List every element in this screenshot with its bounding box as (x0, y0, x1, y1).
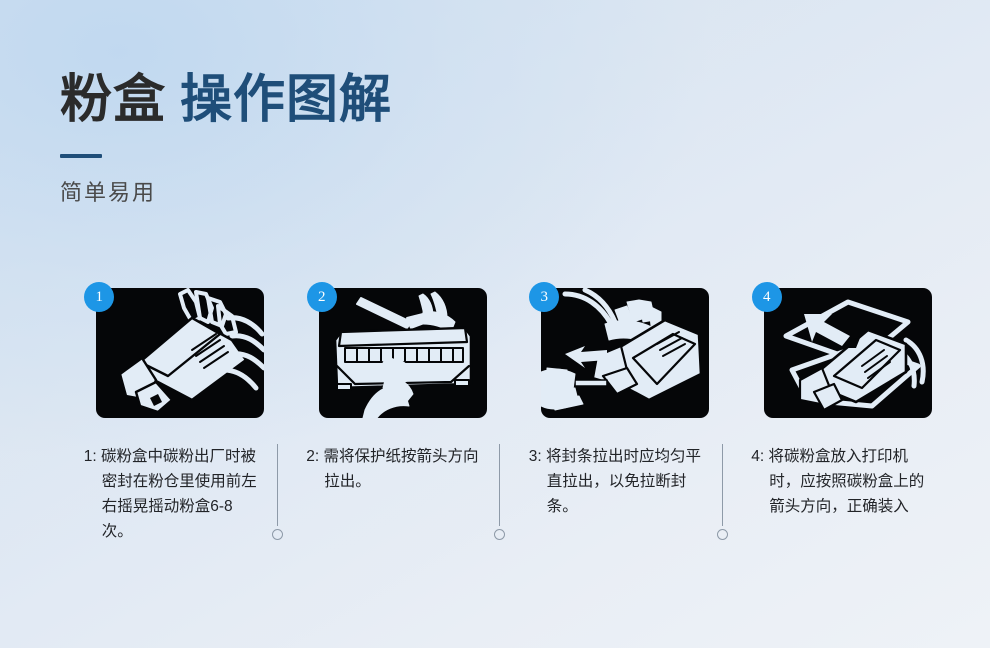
step-figure-wrap: 3 (523, 282, 709, 418)
step-caption: 4: 将碳粉盒放入打印机时，应按照碳粉盒上的箭头方向，正确装入 (751, 444, 926, 519)
title-divider-rule (60, 154, 102, 158)
divider-dot (494, 529, 505, 540)
divider-dot (717, 529, 728, 540)
page-title-main: 粉盒 (60, 71, 166, 129)
page-title: 粉盒操作图解 (60, 72, 660, 128)
step-caption: 1: 碳粉盒中碳粉出厂时被密封在粉仓里使用前左右摇晃摇动粉盒6-8次。 (84, 444, 259, 544)
cartridge-shake-icon (96, 288, 264, 418)
step-badge: 2 (307, 282, 337, 312)
poster-root: 粉盒操作图解 简单易用 (0, 0, 990, 648)
divider-line (277, 444, 278, 526)
step-figure-wrap: 4 (746, 282, 932, 418)
page-subtitle: 简单易用 (60, 180, 660, 206)
step-item: 2 2: 需将保护纸按箭头方向拉出。 (283, 282, 506, 544)
step-item: 4 4: 将碳粉盒放入打印机时，应按照碳粉盒上的箭头方向，正确装入 (728, 282, 951, 544)
divider-line (499, 444, 500, 526)
step-divider (272, 444, 283, 540)
step-badge: 4 (752, 282, 782, 312)
cartridge-pull-paper-icon (319, 288, 487, 418)
cartridge-insert-printer-icon (764, 288, 932, 418)
step-figure-wrap: 2 (301, 282, 487, 418)
step-divider (494, 444, 505, 540)
step-figure-wrap: 1 (78, 282, 264, 418)
step-divider (717, 444, 728, 540)
step-caption: 2: 需将保护纸按箭头方向拉出。 (306, 444, 481, 494)
steps-row: 1 1: 碳粉盒中碳粉出厂时被密封在粉仓里使用前左右摇晃摇动粉盒6-8次。 (60, 282, 950, 544)
step-item: 3 3: 将封条拉出时应均匀平直拉出，以免拉断封条。 (505, 282, 728, 544)
divider-dot (272, 529, 283, 540)
page-title-accent: 操作图解 (180, 71, 392, 129)
cartridge-pull-seal-icon (541, 288, 709, 418)
step-item: 1 1: 碳粉盒中碳粉出厂时被密封在粉仓里使用前左右摇晃摇动粉盒6-8次。 (60, 282, 283, 544)
divider-line (722, 444, 723, 526)
step-caption: 3: 将封条拉出时应均匀平直拉出，以免拉断封条。 (529, 444, 704, 519)
page-header: 粉盒操作图解 简单易用 (60, 72, 660, 207)
